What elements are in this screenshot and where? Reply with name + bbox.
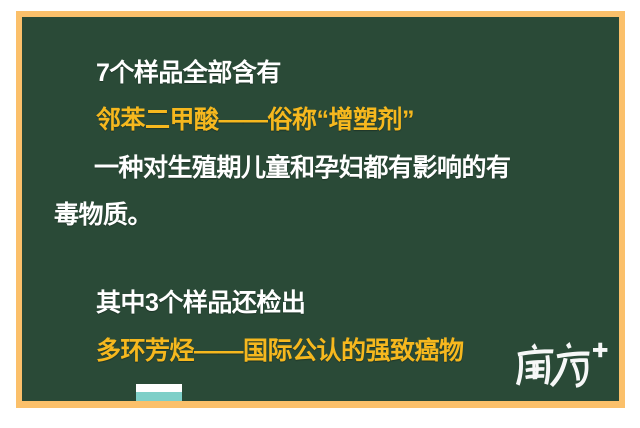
poster-line-2-highlight: 邻苯二甲酸——俗称“增塑剂” bbox=[96, 108, 414, 133]
poster-line-4: 毒物质。 bbox=[54, 203, 152, 228]
nanfang-plus-watermark-logo bbox=[513, 337, 609, 395]
chalkboard-panel: 7个样品全部含有 邻苯二甲酸——俗称“增塑剂” 一种对生殖期儿童和孕妇都有影响的… bbox=[22, 17, 619, 401]
poster-line-1: 7个样品全部含有 bbox=[96, 61, 281, 86]
poster-line-3: 一种对生殖期儿童和孕妇都有影响的有 bbox=[94, 156, 511, 181]
poster-line-5: 其中3个样品还检出 bbox=[96, 291, 305, 316]
poster-line-6-highlight: 多环芳烃——国际公认的强致癌物 bbox=[96, 339, 464, 364]
image-fragment-thumbnail bbox=[136, 384, 182, 401]
poster-frame: 7个样品全部含有 邻苯二甲酸——俗称“增塑剂” 一种对生殖期儿童和孕妇都有影响的… bbox=[16, 11, 625, 408]
image-fragment-teal-band bbox=[136, 392, 182, 401]
poster-canvas: 7个样品全部含有 邻苯二甲酸——俗称“增塑剂” 一种对生殖期儿童和孕妇都有影响的… bbox=[0, 0, 640, 428]
